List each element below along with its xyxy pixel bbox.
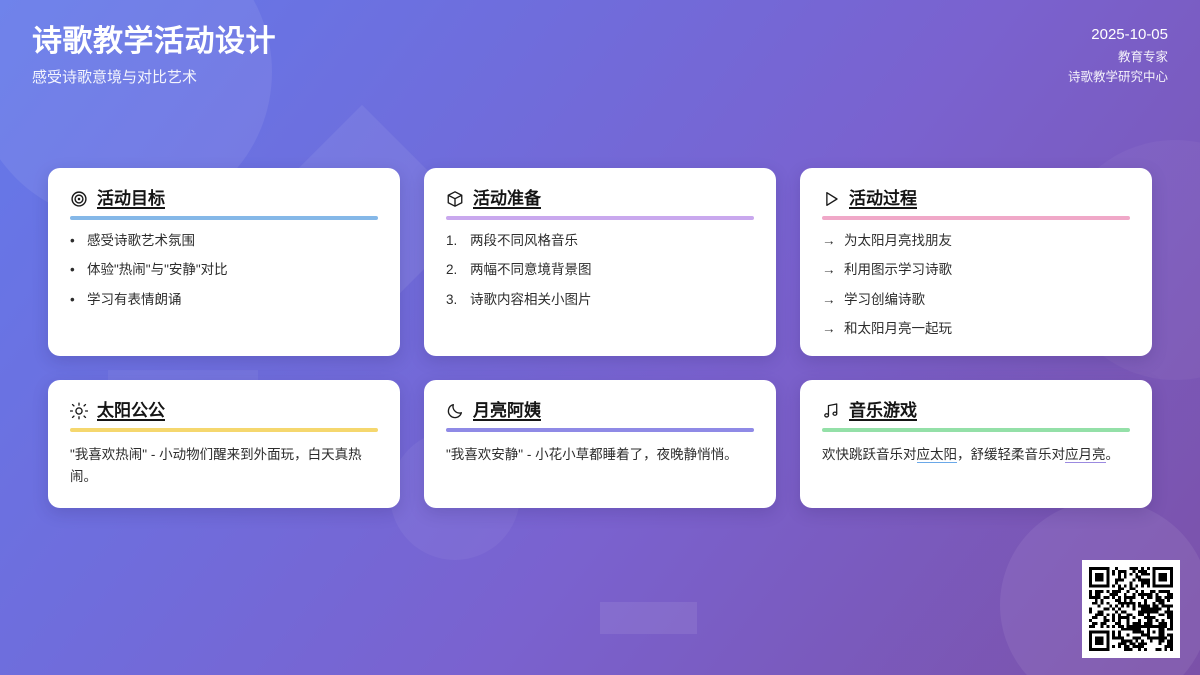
card-music-game[interactable]: 音乐游戏欢快跳跃音乐对应太阳，舒缓轻柔音乐对应月亮。 [800,380,1152,508]
list-item-text: 体验"热闹"与"安静"对比 [87,261,378,279]
package-icon [446,190,464,208]
list-marker-number: 3. [446,291,462,309]
card-paragraph: "我喜欢安静" - 小花小草都睡着了，夜晚静悄悄。 [446,444,754,466]
list-item-text: 诗歌内容相关小图片 [470,291,754,309]
card-accent-bar [70,216,378,220]
header-role: 教育专家 [1068,49,1168,65]
decor-rect-bottom [600,602,697,634]
list-item-text: 感受诗歌艺术氛围 [87,232,378,250]
card-title: 活动目标 [97,188,165,209]
list-item-text: 为太阳月亮找朋友 [844,232,1130,250]
list-item: →为太阳月亮找朋友 [822,232,1130,250]
list-marker-bullet: • [70,291,79,309]
list-item: 1.两段不同风格音乐 [446,232,754,250]
list-item-text: 学习创编诗歌 [844,291,1130,309]
paragraph-text: 。 [1106,447,1120,462]
list-marker-number: 2. [446,261,462,279]
paragraph-text: ，舒缓轻柔音乐对 [957,447,1065,462]
card-accent-bar [70,428,378,432]
qr-code[interactable] [1082,560,1180,658]
qr-code-image [1089,567,1173,651]
card-title: 音乐游戏 [849,400,917,421]
header-organization: 诗歌教学研究中心 [1068,69,1168,85]
card-list: •感受诗歌艺术氛围•体验"热闹"与"安静"对比•学习有表情朗诵 [70,232,378,309]
arrow-right-icon: → [822,320,836,338]
list-item: 3.诗歌内容相关小图片 [446,291,754,309]
page-title: 诗歌教学活动设计 [32,24,276,59]
card-title: 活动过程 [849,188,917,209]
moon-icon [446,402,464,420]
page-subtitle: 感受诗歌意境与对比艺术 [32,69,276,87]
card-grid: 活动目标•感受诗歌艺术氛围•体验"热闹"与"安静"对比•学习有表情朗诵活动准备1… [48,168,1152,508]
list-item: •体验"热闹"与"安静"对比 [70,261,378,279]
target-icon [70,190,88,208]
slide-header: 诗歌教学活动设计 感受诗歌意境与对比艺术 2025-10-05 教育专家 诗歌教… [0,0,1200,87]
card-list: 1.两段不同风格音乐2.两幅不同意境背景图3.诗歌内容相关小图片 [446,232,754,309]
card-header: 活动准备 [446,188,754,209]
highlight-moon: 应月亮 [1065,447,1106,463]
card-activity-process[interactable]: 活动过程→为太阳月亮找朋友→利用图示学习诗歌→学习创编诗歌→和太阳月亮一起玩 [800,168,1152,356]
card-accent-bar [446,428,754,432]
paragraph-text: 欢快跳跃音乐对 [822,447,917,462]
list-item: →学习创编诗歌 [822,291,1130,309]
list-item: →和太阳月亮一起玩 [822,320,1130,338]
list-marker-number: 1. [446,232,462,250]
list-item-text: 和太阳月亮一起玩 [844,320,1130,338]
header-date: 2025-10-05 [1068,26,1168,45]
card-title: 月亮阿姨 [473,400,541,421]
card-list: →为太阳月亮找朋友→利用图示学习诗歌→学习创编诗歌→和太阳月亮一起玩 [822,232,1130,338]
slide-root: 诗歌教学活动设计 感受诗歌意境与对比艺术 2025-10-05 教育专家 诗歌教… [0,0,1200,675]
list-item-text: 两段不同风格音乐 [470,232,754,250]
card-header: 音乐游戏 [822,400,1130,421]
card-accent-bar [822,216,1130,220]
card-header: 太阳公公 [70,400,378,421]
card-paragraph: "我喜欢热闹" - 小动物们醒来到外面玩，白天真热闹。 [70,444,378,488]
card-activity-goal[interactable]: 活动目标•感受诗歌艺术氛围•体验"热闹"与"安静"对比•学习有表情朗诵 [48,168,400,356]
card-header: 月亮阿姨 [446,400,754,421]
arrow-right-icon: → [822,261,836,279]
card-header: 活动过程 [822,188,1130,209]
card-accent-bar [822,428,1130,432]
list-item: 2.两幅不同意境背景图 [446,261,754,279]
list-item: •学习有表情朗诵 [70,291,378,309]
highlight-sun: 应太阳 [917,447,958,463]
list-marker-bullet: • [70,261,79,279]
card-title: 活动准备 [473,188,541,209]
list-marker-bullet: • [70,232,79,250]
header-left-block: 诗歌教学活动设计 感受诗歌意境与对比艺术 [32,24,276,87]
arrow-right-icon: → [822,232,836,250]
music-note-icon [822,402,840,420]
card-sun-grandpa[interactable]: 太阳公公"我喜欢热闹" - 小动物们醒来到外面玩，白天真热闹。 [48,380,400,508]
sun-icon [70,402,88,420]
list-item-text: 利用图示学习诗歌 [844,261,1130,279]
card-activity-preparation[interactable]: 活动准备1.两段不同风格音乐2.两幅不同意境背景图3.诗歌内容相关小图片 [424,168,776,356]
play-icon [822,190,840,208]
list-item: •感受诗歌艺术氛围 [70,232,378,250]
list-item: →利用图示学习诗歌 [822,261,1130,279]
list-item-text: 两幅不同意境背景图 [470,261,754,279]
arrow-right-icon: → [822,291,836,309]
card-accent-bar [446,216,754,220]
list-item-text: 学习有表情朗诵 [87,291,378,309]
card-header: 活动目标 [70,188,378,209]
card-paragraph: 欢快跳跃音乐对应太阳，舒缓轻柔音乐对应月亮。 [822,444,1130,466]
header-right-block: 2025-10-05 教育专家 诗歌教学研究中心 [1068,24,1168,85]
card-moon-auntie[interactable]: 月亮阿姨"我喜欢安静" - 小花小草都睡着了，夜晚静悄悄。 [424,380,776,508]
card-title: 太阳公公 [97,400,165,421]
